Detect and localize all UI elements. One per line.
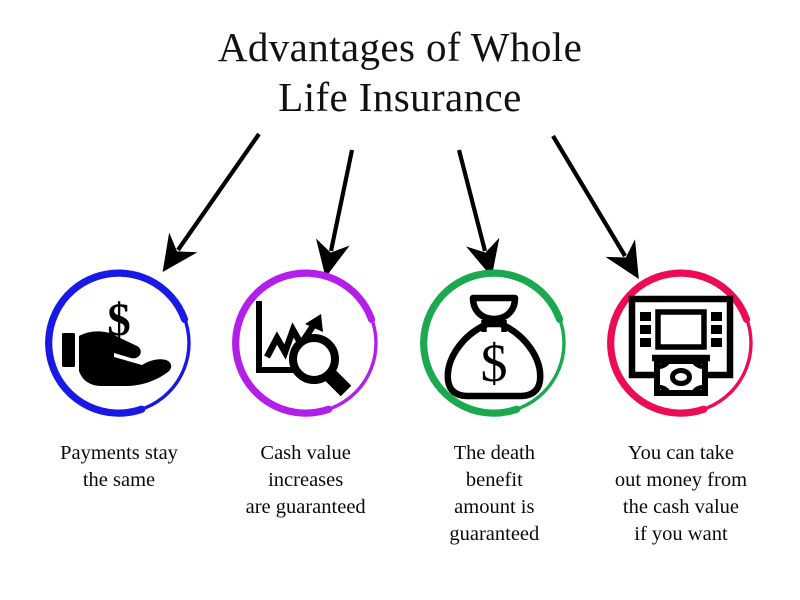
title-line-1: Advantages of Whole <box>0 22 800 72</box>
caption-line: Cash value <box>260 442 351 464</box>
caption-line: the same <box>83 469 155 491</box>
caption-item-4: You can take out money from the cash val… <box>589 440 773 548</box>
benefit-item-2[interactable]: Cash value increases are guaranteed <box>215 262 397 521</box>
money-bag-dollar-icon: $ <box>413 262 575 424</box>
caption-item-1: Payments stay the same <box>27 440 211 494</box>
arrow-to-item-3 <box>459 150 485 251</box>
arrow-to-item-1 <box>178 134 259 250</box>
caption-line: The death <box>454 442 535 464</box>
page-title: Advantages of Whole Life Insurance <box>0 22 800 122</box>
caption-line: out money from <box>615 469 747 491</box>
benefit-item-3[interactable]: $ The death benefit amount is guaranteed <box>403 262 585 548</box>
caption-item-3: The death benefit amount is guaranteed <box>402 440 586 548</box>
benefit-item-1[interactable]: $ Payments stay the same <box>28 262 210 494</box>
growth-chart-magnifier-icon <box>225 262 387 424</box>
caption-line: guaranteed <box>449 523 539 545</box>
atm-cash-machine-icon <box>600 262 762 424</box>
hand-holding-dollar-icon: $ <box>38 262 200 424</box>
caption-line: You can take <box>628 442 734 464</box>
title-line-2: Life Insurance <box>0 72 800 122</box>
benefit-columns: $ Payments stay the same <box>0 262 800 582</box>
caption-line: benefit <box>466 469 523 491</box>
arrow-to-item-4 <box>553 136 625 256</box>
caption-line: amount is <box>454 496 534 518</box>
svg-text:$: $ <box>481 333 508 393</box>
infographic-canvas: Advantages of Whole Life Insurance <box>0 0 800 600</box>
caption-line: increases <box>268 469 343 491</box>
badge-death-benefit-guaranteed[interactable]: $ <box>413 262 575 424</box>
badge-take-out-money[interactable] <box>600 262 762 424</box>
badge-payments-stay-the-same[interactable]: $ <box>38 262 200 424</box>
badge-cash-value-increases[interactable] <box>225 262 387 424</box>
caption-line: are guaranteed <box>246 496 366 518</box>
benefit-item-4[interactable]: You can take out money from the cash val… <box>590 262 772 548</box>
caption-line: Payments stay <box>60 442 178 464</box>
arrow-to-item-2 <box>331 150 352 251</box>
caption-line: the cash value <box>623 496 739 518</box>
caption-item-2: Cash value increases are guaranteed <box>214 440 398 521</box>
caption-line: if you want <box>634 523 727 545</box>
